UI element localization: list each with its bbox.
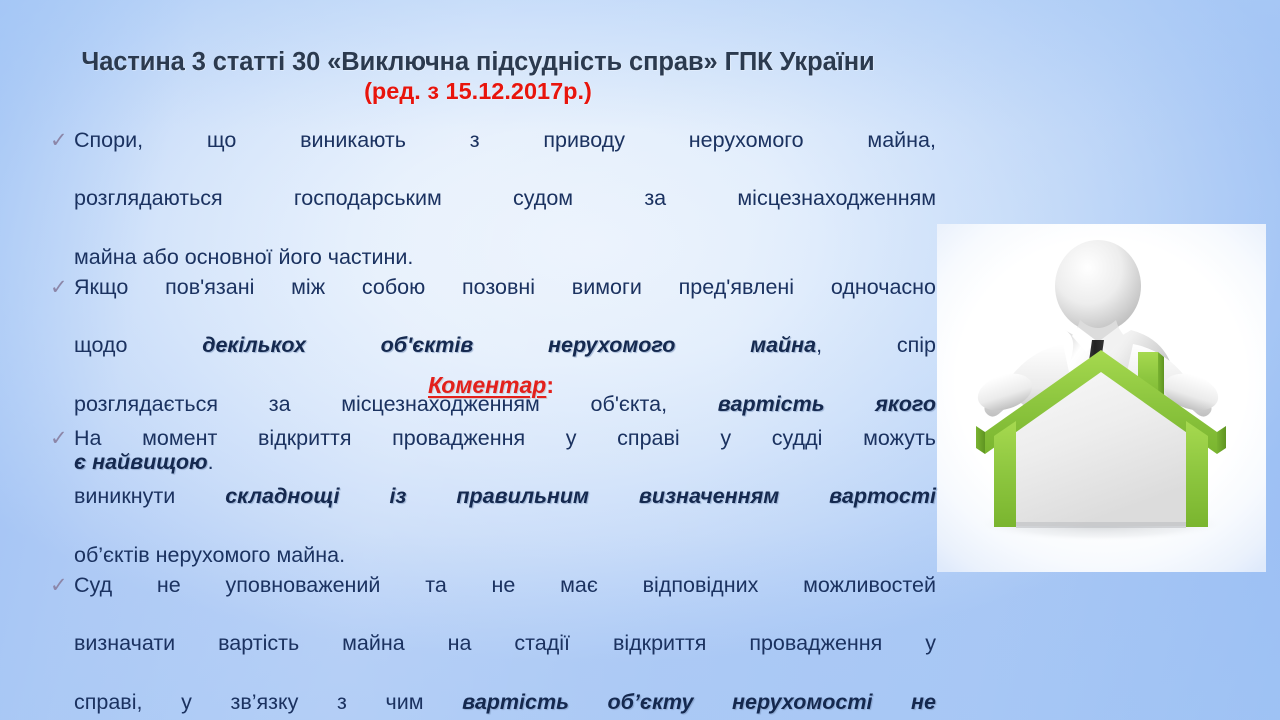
text-run: виникнути	[74, 484, 225, 508]
text-run: чим	[386, 690, 463, 714]
checkmark-icon: ✓	[46, 126, 74, 155]
bullet-list-bottom: ✓На момент відкриття провадження у справ…	[46, 424, 936, 720]
checkmark-icon: ✓	[46, 424, 74, 453]
emphasis-run: декількох об'єктів нерухомого майна	[202, 333, 816, 357]
title-block: Частина 3 статті 30 «Виключна підсудніст…	[28, 48, 928, 106]
house-post-right	[1186, 421, 1208, 527]
checkmark-icon: ✓	[46, 273, 74, 302]
text-run: Якщо пов'язані між собою позовні вимоги …	[74, 275, 936, 299]
bullet-item: ✓Спори, що виникають з приводу нерухомог…	[46, 126, 936, 272]
text-run: визначати вартість майна на стадії відкр…	[74, 631, 936, 655]
bullet-item: ✓На момент відкриття провадження у справ…	[46, 424, 936, 570]
slide-subtitle: (ред. з 15.12.2017р.)	[28, 78, 928, 106]
house-roof-right-edge	[1217, 426, 1226, 454]
text-run: об’єктів нерухомого майна.	[74, 543, 345, 567]
bullet-text: Суд не уповноважений та не має відповідн…	[74, 571, 936, 720]
house-roof-left-edge	[976, 426, 985, 454]
bullet-line: Спори, що виникають з приводу нерухомого…	[74, 126, 936, 184]
bullet-line: визначати вартість майна на стадії відкр…	[74, 629, 936, 687]
bullet-line: Якщо пов'язані між собою позовні вимоги …	[74, 273, 936, 331]
figure-head	[1055, 240, 1141, 332]
bullet-text: Спори, що виникають з приводу нерухомого…	[74, 126, 936, 272]
bullet-line: На момент відкриття провадження у справі…	[74, 424, 936, 482]
text-run: На момент відкриття провадження у справі…	[74, 426, 936, 450]
bullet-item: ✓Суд не уповноважений та не має відповід…	[46, 571, 936, 720]
emphasis-run: складнощі із правильним визначенням варт…	[225, 484, 936, 508]
checkmark-icon: ✓	[46, 571, 74, 600]
comment-heading: Коментар:	[46, 372, 936, 399]
house-post-left	[994, 421, 1016, 527]
text-run: , спір	[816, 333, 936, 357]
comment-heading-label: Коментар	[428, 372, 546, 398]
text-run: майна або основної його частини.	[74, 245, 413, 269]
comment-heading-colon: :	[546, 372, 554, 398]
bullet-line: справі, у зв’язку з чим вартість об’єкту…	[74, 688, 936, 720]
bullet-line: розглядаються господарським судом за міс…	[74, 184, 936, 242]
text-run: справі, у зв’язку з	[74, 690, 386, 714]
bullet-line: виникнути складнощі із правильним визнач…	[74, 482, 936, 540]
bullet-text: На момент відкриття провадження у справі…	[74, 424, 936, 570]
illustration-person-behind-green-house	[937, 224, 1266, 572]
text-run: Суд не уповноважений та не має відповідн…	[74, 573, 936, 597]
house-base-shadow	[1016, 522, 1186, 528]
emphasis-run: вартість об’єкту нерухомості не	[462, 690, 936, 714]
text-run: розглядаються господарським судом за міс…	[74, 186, 936, 210]
slide-title: Частина 3 статті 30 «Виключна підсудніст…	[28, 48, 928, 76]
bullet-line: Суд не уповноважений та не має відповідн…	[74, 571, 936, 629]
text-run: щодо	[74, 333, 202, 357]
bullet-line: об’єктів нерухомого майна.	[74, 541, 936, 570]
slide-canvas: Частина 3 статті 30 «Виключна підсудніст…	[0, 0, 1280, 720]
bullet-line: майна або основної його частини.	[74, 243, 936, 272]
text-run: Спори, що виникають з приводу нерухомого…	[74, 128, 936, 152]
